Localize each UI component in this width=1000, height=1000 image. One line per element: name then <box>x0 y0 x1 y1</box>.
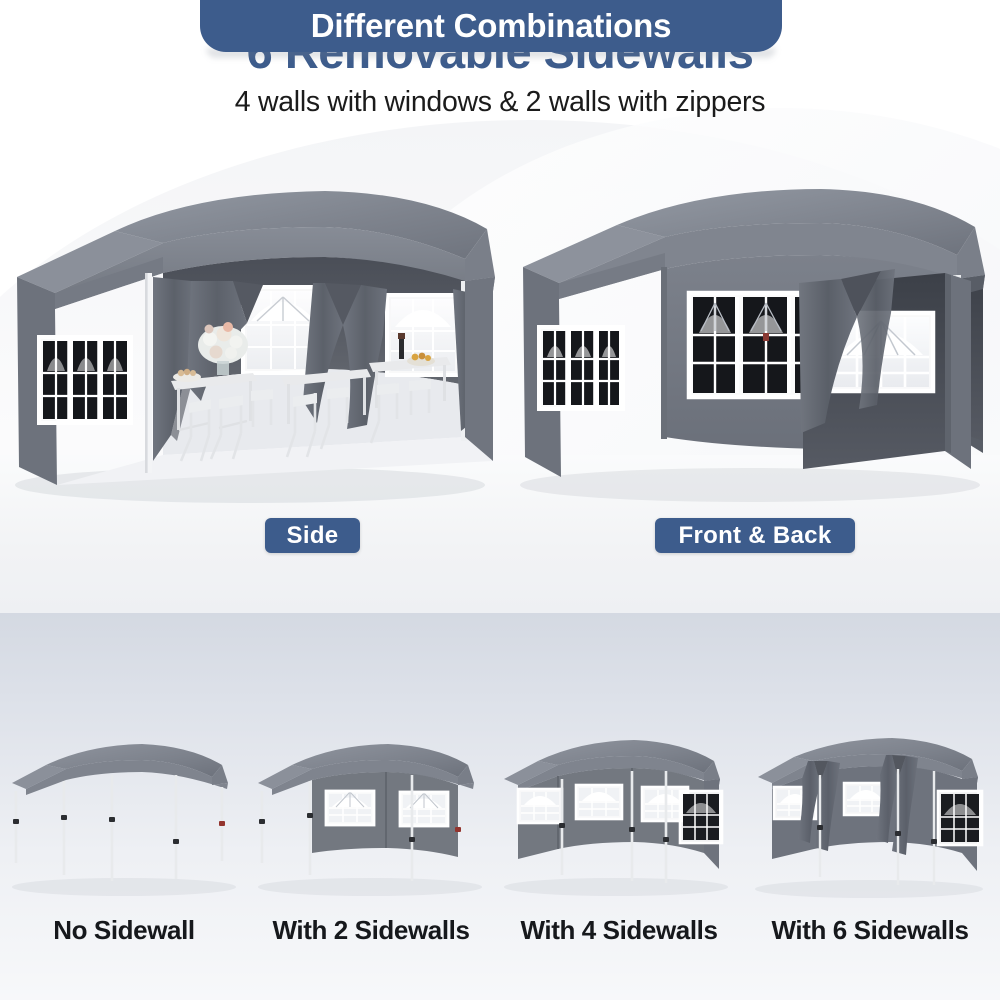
window-panel-left-end <box>39 337 131 423</box>
combination-thumb-2-sidewalls <box>250 735 490 910</box>
tent-front-opening-detail <box>795 255 1000 515</box>
page-subheadline: 4 walls with windows & 2 walls with zipp… <box>0 86 1000 119</box>
combination-label-2-sidewalls: With 2 Sidewalls <box>246 915 496 946</box>
combination-thumb-4-sidewalls <box>496 735 736 910</box>
combinations-banner: Different Combinations <box>200 0 782 52</box>
tent-illustration-side <box>0 185 515 515</box>
combination-label-4-sidewalls: With 4 Sidewalls <box>494 915 744 946</box>
combination-label-no-sidewall: No Sidewall <box>0 915 248 946</box>
combination-thumb-no-sidewall <box>4 735 244 910</box>
badge-front-and-back: Front & Back <box>655 518 855 553</box>
badge-side: Side <box>265 518 360 553</box>
combination-thumb-6-sidewalls <box>744 735 994 910</box>
combination-label-6-sidewalls: With 6 Sidewalls <box>744 915 996 946</box>
window-panel-end-left <box>539 327 623 409</box>
top-section: 6 Removable Sidewalls 4 walls with windo… <box>0 0 1000 613</box>
